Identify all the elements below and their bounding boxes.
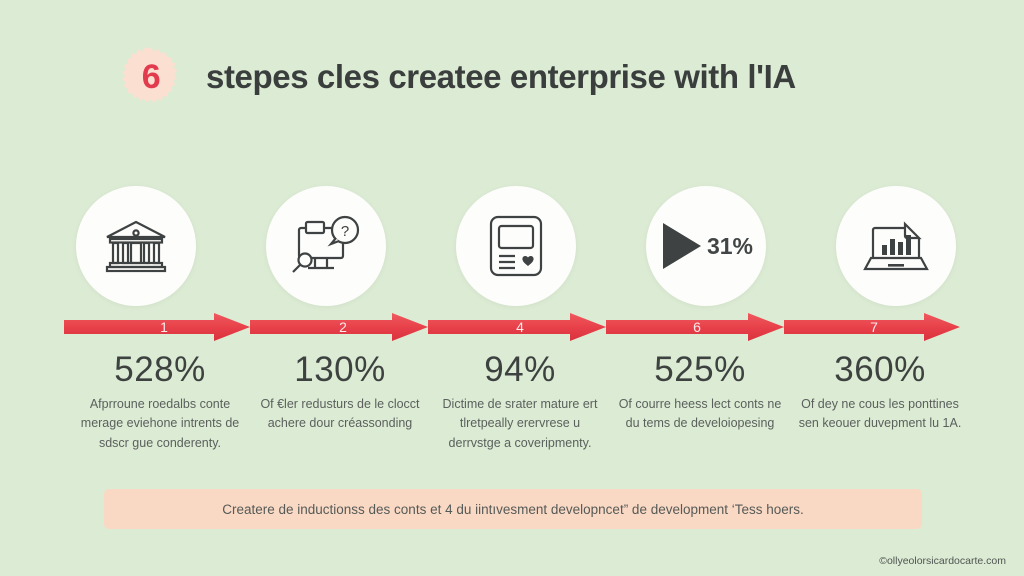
- stat-value: 360%: [796, 352, 964, 389]
- footer-credit: ©ollyeolorsicardocarte.com: [879, 555, 1006, 567]
- timeline-svg: [64, 313, 960, 347]
- bank-building-icon: [102, 215, 170, 277]
- stat-description: Afprroune roedalbs conte merage eviehone…: [76, 395, 244, 453]
- timeline-number-2: 2: [339, 319, 347, 335]
- device-heart-icon: [487, 213, 545, 279]
- stat-value: 94%: [436, 352, 604, 389]
- timeline-arrow-bar: 1 2 4 6 7: [64, 313, 960, 347]
- play-percent-value: 31%: [707, 233, 753, 260]
- icon-circle-3: [456, 186, 576, 306]
- icon-circle-4: 31%: [646, 186, 766, 306]
- page-title: stepes cles createe enterprise with l'IA: [206, 58, 796, 96]
- bottom-banner: Createre de inductionss des conts et 4 d…: [104, 489, 922, 529]
- stat-value: 525%: [616, 352, 784, 389]
- badge-number: 6: [142, 58, 160, 97]
- icon-circle-1: [76, 186, 196, 306]
- stat-description: Of €ler redusturs de le clocct achere do…: [256, 395, 424, 434]
- icon-circle-2: ?: [266, 186, 386, 306]
- laptop-chart-document-icon: [861, 216, 931, 276]
- timeline-number-5: 7: [870, 319, 878, 335]
- svg-text:?: ?: [341, 223, 349, 240]
- stat-value: 130%: [256, 352, 424, 389]
- stat-description: Dictime de srater mature ert tlretpeally…: [436, 395, 604, 453]
- stat-item: 528% Afprroune roedalbs conte merage evi…: [76, 352, 244, 453]
- stat-item: 360% Of dey ne cous les ponttines sen ke…: [796, 352, 964, 453]
- stat-item: 525% Of courre heess lect conts ne du te…: [616, 352, 784, 453]
- play-triangle-icon: [659, 219, 705, 273]
- stat-item: 94% Dictime de srater mature ert tlretpe…: [436, 352, 604, 453]
- header: 6 stepes cles createe enterprise with l'…: [118, 44, 796, 110]
- timeline-number-1: 1: [160, 319, 168, 335]
- monitor-question-search-icon: ?: [290, 214, 362, 278]
- stat-description: Of dey ne cous les ponttines sen keouer …: [796, 395, 964, 434]
- stat-item: 130% Of €ler redusturs de le clocct ache…: [256, 352, 424, 453]
- stat-value: 528%: [76, 352, 244, 389]
- stats-row: 528% Afprroune roedalbs conte merage evi…: [76, 352, 964, 453]
- timeline-number-4: 6: [693, 319, 701, 335]
- timeline-number-3: 4: [516, 319, 524, 335]
- icons-row: ? 31%: [76, 186, 956, 306]
- step-count-badge: 6: [118, 44, 184, 110]
- icon-circle-5: [836, 186, 956, 306]
- stat-description: Of courre heess lect conts ne du tems de…: [616, 395, 784, 434]
- banner-text: Createre de inductionss des conts et 4 d…: [222, 502, 804, 517]
